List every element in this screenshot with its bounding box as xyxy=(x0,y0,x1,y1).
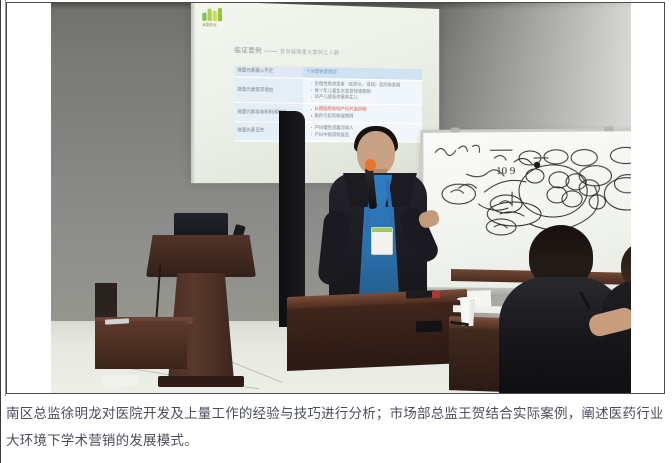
slide-logo-text: 永康药业 xyxy=(202,22,231,28)
foreground-figure-left xyxy=(279,111,305,327)
lectern-base xyxy=(158,376,244,387)
photo-caption: 南区总监徐明龙对医院开发及上量工作的经验与技巧进行分析；市场部总监王贺结合实际案… xyxy=(6,400,666,454)
logo-mark-icon xyxy=(202,7,225,21)
desk-phone xyxy=(416,321,442,333)
slide-table-row: 微量元素需求增加 急慢性疾病患者（如肝炎、肾病）后的恢复期 青少年儿童生长发育快… xyxy=(234,77,422,106)
slide-row-item: 早产儿或低体重新生儿 xyxy=(311,94,419,102)
slide-title-main: 临证要例 —— xyxy=(234,47,278,55)
slide-title: 临证要例 —— 复杂疑难重大案例之人群 xyxy=(234,45,339,57)
lectern-top xyxy=(146,235,256,277)
slide-subtitle: 复杂疑难重大案例之人群 xyxy=(280,49,339,56)
slide-row-items: 急慢性疾病患者（如肝炎、肾病）后的恢复期 青少年儿童生长发育快速期期 早产儿或低… xyxy=(303,78,422,105)
attendee-shoulders xyxy=(601,281,631,393)
side-table-paper xyxy=(103,374,139,387)
conference-photo: 永康药业 临证要例 —— 复杂疑难重大案例之人群 微量元素摄入不足 个体需要量增… xyxy=(51,3,631,393)
front-table-left-apron xyxy=(287,301,465,371)
slide-logo: 永康药业 xyxy=(202,7,231,30)
side-table xyxy=(95,321,187,369)
photo-content-box: 永康药业 临证要例 —— 复杂疑难重大案例之人群 微量元素摄入不足 个体需要量增… xyxy=(6,2,665,394)
desk-remote-button xyxy=(432,291,440,298)
screen-left-edge xyxy=(191,3,195,183)
presenter-microphone-head xyxy=(365,159,376,171)
presenter-id-badge xyxy=(371,227,393,255)
article-page-frame: 永康药业 临证要例 —— 复杂疑难重大案例之人群 微量元素摄入不足 个体需要量增… xyxy=(0,0,672,463)
slide-row-label: 微量元素需求增加 xyxy=(234,77,303,104)
attendee-right xyxy=(607,243,631,393)
photo-canvas: 永康药业 临证要例 —— 复杂疑难重大案例之人群 微量元素摄入不足 个体需要量增… xyxy=(51,3,631,393)
